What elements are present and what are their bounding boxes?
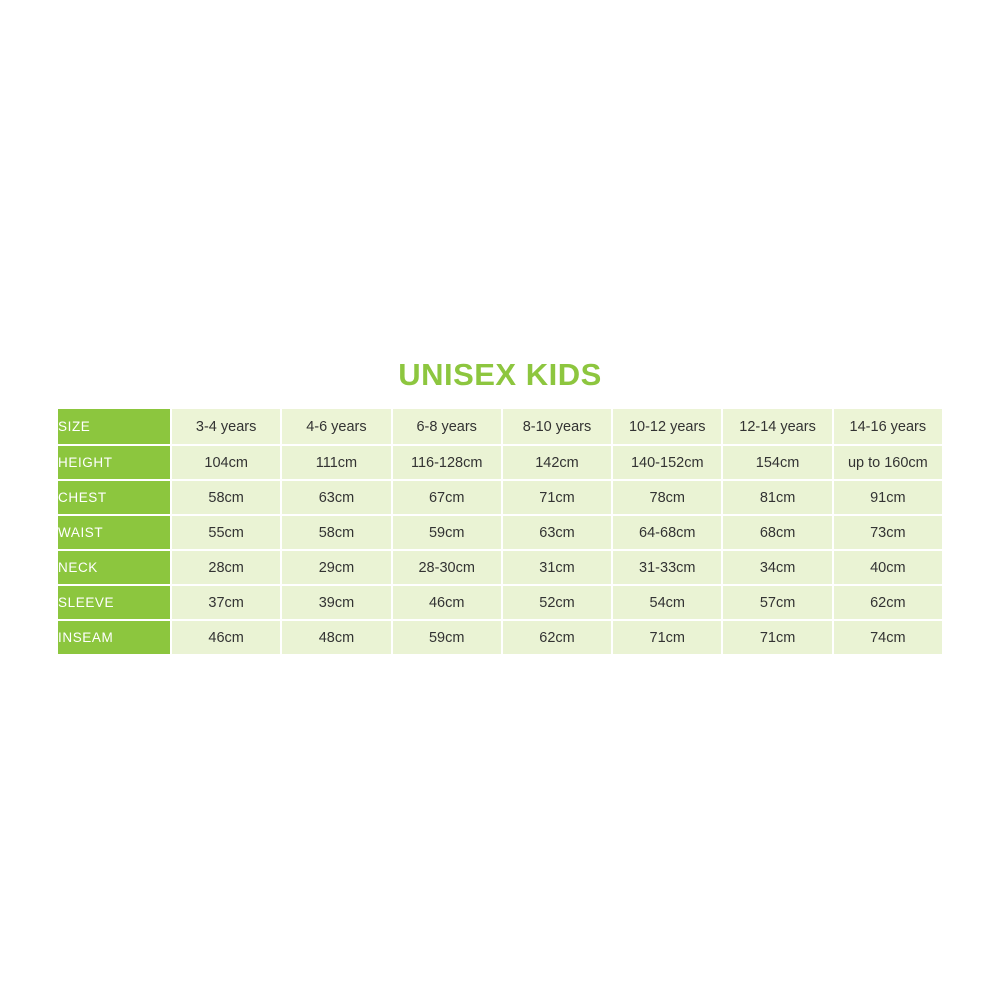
row-label-chest: CHEST bbox=[58, 481, 170, 514]
cell-chest-3: 71cm bbox=[503, 481, 611, 514]
cell-sleeve-3: 52cm bbox=[503, 586, 611, 619]
cell-inseam-0: 46cm bbox=[172, 621, 280, 654]
cell-height-4: 140-152cm bbox=[613, 446, 721, 479]
cell-height-1: 111cm bbox=[282, 446, 390, 479]
cell-inseam-6: 74cm bbox=[834, 621, 942, 654]
size-chart-page: UNISEX KIDS SIZE 3-4 years 4-6 years 6-8… bbox=[0, 0, 1000, 1000]
cell-chest-5: 81cm bbox=[723, 481, 831, 514]
cell-height-3: 142cm bbox=[503, 446, 611, 479]
cell-inseam-4: 71cm bbox=[613, 621, 721, 654]
cell-neck-2: 28-30cm bbox=[393, 551, 501, 584]
cell-height-6: up to 160cm bbox=[834, 446, 942, 479]
row-label-waist: WAIST bbox=[58, 516, 170, 549]
cell-neck-1: 29cm bbox=[282, 551, 390, 584]
row-label-inseam: INSEAM bbox=[58, 621, 170, 654]
cell-sleeve-5: 57cm bbox=[723, 586, 831, 619]
cell-sleeve-0: 37cm bbox=[172, 586, 280, 619]
cell-chest-2: 67cm bbox=[393, 481, 501, 514]
cell-neck-6: 40cm bbox=[834, 551, 942, 584]
column-header-3: 8-10 years bbox=[503, 409, 611, 444]
cell-waist-5: 68cm bbox=[723, 516, 831, 549]
cell-waist-4: 64-68cm bbox=[613, 516, 721, 549]
row-label-sleeve: SLEEVE bbox=[58, 586, 170, 619]
cell-chest-6: 91cm bbox=[834, 481, 942, 514]
cell-neck-0: 28cm bbox=[172, 551, 280, 584]
cell-sleeve-1: 39cm bbox=[282, 586, 390, 619]
cell-waist-2: 59cm bbox=[393, 516, 501, 549]
cell-height-5: 154cm bbox=[723, 446, 831, 479]
row-label-neck: NECK bbox=[58, 551, 170, 584]
cell-inseam-5: 71cm bbox=[723, 621, 831, 654]
cell-waist-6: 73cm bbox=[834, 516, 942, 549]
cell-sleeve-4: 54cm bbox=[613, 586, 721, 619]
column-header-5: 12-14 years bbox=[723, 409, 831, 444]
column-header-6: 14-16 years bbox=[834, 409, 942, 444]
column-header-4: 10-12 years bbox=[613, 409, 721, 444]
table-header-row: SIZE 3-4 years 4-6 years 6-8 years 8-10 … bbox=[58, 409, 942, 444]
cell-chest-4: 78cm bbox=[613, 481, 721, 514]
table-row: WAIST 55cm 58cm 59cm 63cm 64-68cm 68cm 7… bbox=[58, 516, 942, 549]
table-row: CHEST 58cm 63cm 67cm 71cm 78cm 81cm 91cm bbox=[58, 481, 942, 514]
cell-height-0: 104cm bbox=[172, 446, 280, 479]
table-row: INSEAM 46cm 48cm 59cm 62cm 71cm 71cm 74c… bbox=[58, 621, 942, 654]
cell-sleeve-2: 46cm bbox=[393, 586, 501, 619]
size-chart-body: SIZE 3-4 years 4-6 years 6-8 years 8-10 … bbox=[58, 409, 942, 654]
column-header-0: 3-4 years bbox=[172, 409, 280, 444]
cell-chest-0: 58cm bbox=[172, 481, 280, 514]
cell-waist-0: 55cm bbox=[172, 516, 280, 549]
header-corner-label: SIZE bbox=[58, 409, 170, 444]
column-header-1: 4-6 years bbox=[282, 409, 390, 444]
page-title: UNISEX KIDS bbox=[0, 357, 1000, 393]
cell-neck-5: 34cm bbox=[723, 551, 831, 584]
size-chart-table: SIZE 3-4 years 4-6 years 6-8 years 8-10 … bbox=[56, 407, 944, 656]
table-row: SLEEVE 37cm 39cm 46cm 52cm 54cm 57cm 62c… bbox=[58, 586, 942, 619]
table-row: HEIGHT 104cm 111cm 116-128cm 142cm 140-1… bbox=[58, 446, 942, 479]
cell-neck-4: 31-33cm bbox=[613, 551, 721, 584]
cell-chest-1: 63cm bbox=[282, 481, 390, 514]
table-row: NECK 28cm 29cm 28-30cm 31cm 31-33cm 34cm… bbox=[58, 551, 942, 584]
cell-height-2: 116-128cm bbox=[393, 446, 501, 479]
cell-waist-3: 63cm bbox=[503, 516, 611, 549]
row-label-height: HEIGHT bbox=[58, 446, 170, 479]
cell-sleeve-6: 62cm bbox=[834, 586, 942, 619]
cell-inseam-1: 48cm bbox=[282, 621, 390, 654]
column-header-2: 6-8 years bbox=[393, 409, 501, 444]
cell-inseam-3: 62cm bbox=[503, 621, 611, 654]
cell-neck-3: 31cm bbox=[503, 551, 611, 584]
cell-inseam-2: 59cm bbox=[393, 621, 501, 654]
cell-waist-1: 58cm bbox=[282, 516, 390, 549]
